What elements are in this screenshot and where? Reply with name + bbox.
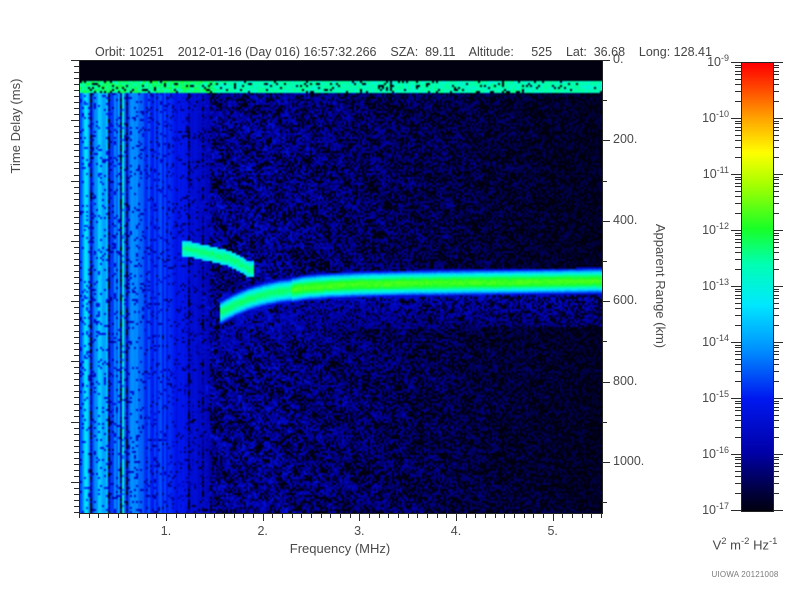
axis-tick-label: 0. (613, 52, 623, 66)
axis-tick (71, 361, 79, 362)
axis-tick (74, 295, 79, 296)
axis-tick (74, 193, 79, 194)
colorbar-tick (735, 74, 741, 75)
colorbar-tick (773, 364, 779, 365)
colorbar-tick-label: 10-12 (702, 221, 729, 237)
axis-tick (602, 341, 607, 342)
axis-tick (214, 513, 215, 518)
axis-tick (602, 221, 610, 222)
axis-tick (602, 382, 610, 383)
colorbar-tick (773, 123, 779, 124)
axis-tick (74, 452, 79, 453)
axis-tick (156, 513, 157, 518)
axis-tick (71, 301, 79, 302)
colorbar-tick (735, 291, 741, 292)
axis-tick (446, 513, 447, 518)
colorbar-tick (735, 403, 741, 404)
colorbar-tick-major (773, 398, 783, 399)
axis-tick (602, 181, 607, 182)
axis-tick (74, 187, 79, 188)
axis-tick (74, 114, 79, 115)
axis-tick (98, 513, 99, 518)
axis-tick (243, 513, 244, 518)
colorbar-tick (735, 427, 741, 428)
axis-tick (195, 513, 196, 518)
axis-tick-label: 600. (613, 293, 637, 307)
axis-tick (74, 313, 79, 314)
axis-tick (127, 513, 128, 518)
colorbar-tick (735, 289, 741, 290)
colorbar-tick (735, 242, 741, 243)
colorbar-tick (735, 247, 741, 248)
axis-tick (602, 422, 607, 423)
colorbar-tick (773, 259, 779, 260)
colorbar-tick (735, 135, 741, 136)
colorbar-tick-major (731, 118, 741, 119)
colorbar-tick (735, 401, 741, 402)
axis-tick (74, 337, 79, 338)
colorbar-tick-major (731, 342, 741, 343)
axis-tick (321, 513, 322, 518)
colorbar-tick (735, 303, 741, 304)
axis-tick-label: 3. (329, 524, 389, 538)
axis-tick (74, 175, 79, 176)
colorbar-tick (773, 71, 779, 72)
axis-tick (74, 440, 79, 441)
colorbar-tick (773, 298, 779, 299)
colorbar-tick (735, 476, 741, 477)
colorbar-tick (773, 459, 779, 460)
colorbar-tick (735, 233, 741, 234)
colorbar-tick (735, 371, 741, 372)
colorbar-tick (735, 71, 741, 72)
colorbar-tick (735, 459, 741, 460)
axis-tick (74, 494, 79, 495)
axis-tick (369, 513, 370, 518)
colorbar-tick (773, 179, 779, 180)
axis-tick (602, 502, 607, 503)
axis-tick (74, 84, 79, 85)
y-axis-right-title: Apparent Range (km) (653, 196, 668, 376)
axis-tick (71, 482, 79, 483)
axis-tick (485, 513, 486, 518)
colorbar-tick (735, 483, 741, 484)
colorbar-tick (773, 127, 779, 128)
axis-tick (74, 458, 79, 459)
colorbar-tick (735, 466, 741, 467)
colorbar-tick (773, 354, 779, 355)
axis-tick (340, 513, 341, 518)
colorbar-tick (773, 177, 779, 178)
axis-tick (74, 265, 79, 266)
axis-tick (330, 513, 331, 518)
axis-tick (108, 513, 109, 518)
axis-tick (495, 513, 496, 518)
axis-tick (74, 488, 79, 489)
colorbar-tick (773, 407, 779, 408)
axis-tick (582, 513, 583, 518)
colorbar-tick (773, 84, 779, 85)
axis-tick (74, 446, 79, 447)
axis-tick (74, 168, 79, 169)
colorbar-tick (773, 381, 779, 382)
colorbar-tick (735, 239, 741, 240)
axis-tick (282, 513, 283, 518)
axis-tick (74, 506, 79, 507)
colorbar-tick (735, 407, 741, 408)
colorbar-tick (773, 269, 779, 270)
colorbar-tick-major (773, 118, 783, 119)
axis-tick (205, 513, 206, 518)
axis-tick (253, 513, 254, 518)
axis-tick (74, 144, 79, 145)
colorbar-tick-major (773, 230, 783, 231)
x-axis-title: Frequency (MHz) (79, 541, 601, 556)
axis-tick (74, 132, 79, 133)
colorbar-tick (773, 186, 779, 187)
axis-tick (74, 416, 79, 417)
colorbar-tick (773, 135, 779, 136)
axis-tick (74, 373, 79, 374)
axis-tick (74, 319, 79, 320)
axis-tick (292, 513, 293, 518)
colorbar-tick (773, 235, 779, 236)
axis-tick (71, 120, 79, 121)
spectrogram-plot-area (79, 60, 603, 514)
colorbar-tick (773, 457, 779, 458)
axis-tick (379, 513, 380, 518)
colorbar-tick (773, 252, 779, 253)
colorbar-tick (735, 186, 741, 187)
colorbar-tick (735, 196, 741, 197)
colorbar-tick (773, 233, 779, 234)
colorbar-tick (735, 259, 741, 260)
colorbar-tick (735, 364, 741, 365)
colorbar-tick-major (773, 454, 783, 455)
colorbar-tick (773, 67, 779, 68)
colorbar-tick-major (731, 286, 741, 287)
axis-tick (350, 513, 351, 518)
axis-tick (71, 181, 79, 182)
axis-tick (74, 235, 79, 236)
colorbar-tick (773, 91, 779, 92)
axis-tick (533, 513, 534, 518)
axis-tick (263, 513, 264, 521)
axis-tick (74, 283, 79, 284)
colorbar-tick (773, 196, 779, 197)
colorbar-tick (735, 308, 741, 309)
axis-tick (74, 271, 79, 272)
colorbar-tick-major (773, 342, 783, 343)
axis-tick (74, 476, 79, 477)
axis-tick (74, 138, 79, 139)
colorbar-tick (773, 325, 779, 326)
colorbar-tick (735, 463, 741, 464)
colorbar-tick (773, 427, 779, 428)
axis-tick (562, 513, 563, 518)
colorbar-tick (773, 403, 779, 404)
axis-tick (74, 78, 79, 79)
axis-tick (74, 162, 79, 163)
axis-tick-label: 200. (613, 132, 637, 146)
axis-tick (427, 513, 428, 518)
colorbar-tick-major (731, 510, 741, 511)
colorbar-tick (735, 415, 741, 416)
colorbar-tick (773, 308, 779, 309)
colorbar-tick (735, 130, 741, 131)
axis-tick (74, 217, 79, 218)
axis-tick (74, 156, 79, 157)
colorbar-tick (773, 437, 779, 438)
axis-tick (224, 513, 225, 518)
colorbar-tick (735, 79, 741, 80)
axis-tick (591, 513, 592, 518)
axis-tick (71, 422, 79, 423)
axis-tick (74, 90, 79, 91)
colorbar-tick (773, 157, 779, 158)
axis-tick (74, 72, 79, 73)
colorbar-tick (773, 295, 779, 296)
colorbar-tick (735, 91, 741, 92)
axis-tick (74, 108, 79, 109)
axis-tick (602, 301, 610, 302)
axis-tick-label: 1000. (613, 454, 644, 468)
colorbar-tick (773, 371, 779, 372)
colorbar-tick (773, 420, 779, 421)
colorbar-tick (735, 203, 741, 204)
colorbar-tick (773, 121, 779, 122)
axis-tick (74, 150, 79, 151)
axis-tick (504, 513, 505, 518)
axis-tick (74, 331, 79, 332)
colorbar-tick (773, 466, 779, 467)
axis-tick (514, 513, 515, 518)
axis-tick (74, 367, 79, 368)
colorbar-tick (773, 65, 779, 66)
colorbar-tick (735, 157, 741, 158)
colorbar-tick (735, 298, 741, 299)
colorbar-tick-label: 10-17 (702, 501, 729, 517)
colorbar-tick (735, 493, 741, 494)
axis-tick (74, 379, 79, 380)
colorbar-tick (735, 147, 741, 148)
colorbar-tick-label: 10-9 (707, 53, 729, 69)
axis-tick (475, 513, 476, 518)
colorbar-tick (773, 101, 779, 102)
axis-tick (74, 229, 79, 230)
colorbar-tick (773, 203, 779, 204)
colorbar-tick (735, 354, 741, 355)
axis-tick (74, 307, 79, 308)
colorbar-tick (735, 457, 741, 458)
colorbar-tick (773, 140, 779, 141)
axis-tick (74, 500, 79, 501)
colorbar-tick (735, 437, 741, 438)
axis-tick (74, 205, 79, 206)
colorbar-tick (735, 67, 741, 68)
colorbar-tick (773, 247, 779, 248)
colorbar-tick (773, 471, 779, 472)
colorbar-tick (773, 130, 779, 131)
axis-tick-label: 2. (233, 524, 293, 538)
axis-tick (74, 434, 79, 435)
axis-tick (74, 397, 79, 398)
plot-header: Orbit: 10251 2012-01-16 (Day 016) 16:57:… (0, 31, 800, 59)
axis-tick (71, 60, 79, 61)
colorbar-tick-major (731, 174, 741, 175)
axis-tick (74, 253, 79, 254)
colorbar-tick (773, 476, 779, 477)
axis-tick (74, 464, 79, 465)
axis-tick (456, 513, 457, 521)
colorbar-tick (773, 493, 779, 494)
colorbar-tick (735, 295, 741, 296)
axis-tick (89, 513, 90, 518)
axis-tick (74, 385, 79, 386)
axis-tick (74, 355, 79, 356)
colorbar-tick (735, 381, 741, 382)
colorbar-tick (773, 213, 779, 214)
colorbar-tick (773, 79, 779, 80)
axis-tick (601, 513, 602, 518)
colorbar-tick (773, 315, 779, 316)
axis-tick (137, 513, 138, 518)
axis-tick (437, 513, 438, 518)
colorbar-tick-major (731, 454, 741, 455)
axis-tick (74, 247, 79, 248)
colorbar-tick (773, 415, 779, 416)
axis-tick (74, 277, 79, 278)
axis-tick (74, 470, 79, 471)
colorbar-tick (735, 140, 741, 141)
axis-tick (74, 343, 79, 344)
colorbar-tick-major (773, 174, 783, 175)
axis-tick (74, 199, 79, 200)
colorbar-tick-label: 10-16 (702, 445, 729, 461)
axis-tick (147, 513, 148, 518)
colorbar-tick (735, 345, 741, 346)
colorbar-tick (773, 291, 779, 292)
colorbar-tick (773, 147, 779, 148)
colorbar-tick (735, 65, 741, 66)
axis-tick-label: 5. (523, 524, 583, 538)
axis-tick (74, 410, 79, 411)
colorbar-tick-major (773, 62, 783, 63)
colorbar-tick-label: 10-11 (703, 165, 729, 181)
axis-tick-label: 400. (613, 213, 637, 227)
axis-tick (602, 261, 607, 262)
colorbar-tick-major (773, 286, 783, 287)
colorbar-tick (773, 483, 779, 484)
colorbar-tick-major (773, 510, 783, 511)
axis-tick (543, 513, 544, 518)
axis-tick (74, 428, 79, 429)
colorbar-tick (735, 121, 741, 122)
y-axis-left-title: Time Delay (ms) (8, 46, 23, 206)
colorbar-tick (773, 359, 779, 360)
colorbar-tick (773, 239, 779, 240)
colorbar-tick-label: 10-10 (702, 109, 729, 125)
colorbar-tick (735, 123, 741, 124)
axis-tick (602, 140, 610, 141)
colorbar-tick (773, 401, 779, 402)
colorbar-tick (773, 351, 779, 352)
axis-tick (602, 100, 607, 101)
axis-tick (74, 223, 79, 224)
axis-tick (602, 60, 610, 61)
colorbar-tick-major (731, 230, 741, 231)
axis-tick (74, 96, 79, 97)
axis-tick (79, 513, 80, 518)
colorbar-tick (735, 183, 741, 184)
colorbar-tick (773, 183, 779, 184)
colorbar-tick (735, 471, 741, 472)
axis-tick (74, 289, 79, 290)
colorbar-tick (735, 179, 741, 180)
colorbar-tick (735, 347, 741, 348)
axis-tick (74, 349, 79, 350)
colorbar-tick-label: 10-14 (702, 333, 729, 349)
colorbar-tick (735, 351, 741, 352)
axis-tick (553, 513, 554, 521)
colorbar-tick (735, 269, 741, 270)
colorbar-tick-major (731, 398, 741, 399)
axis-tick (272, 513, 273, 518)
colorbar-tick (735, 191, 741, 192)
colorbar-tick (735, 325, 741, 326)
axis-tick (74, 391, 79, 392)
colorbar-tick (773, 191, 779, 192)
colorbar-tick-major (731, 62, 741, 63)
colorbar-tick (773, 74, 779, 75)
axis-tick (408, 513, 409, 518)
colorbar-tick (773, 289, 779, 290)
colorbar-tick (735, 359, 741, 360)
axis-tick-label: 4. (426, 524, 486, 538)
axis-tick (176, 513, 177, 518)
colorbar-tick (735, 177, 741, 178)
axis-tick (74, 259, 79, 260)
colorbar-tick (735, 84, 741, 85)
colorbar-tick (773, 347, 779, 348)
axis-tick (417, 513, 418, 518)
colorbar-tick (773, 345, 779, 346)
axis-tick (311, 513, 312, 518)
colorbar-tick-label: 10-15 (702, 389, 729, 405)
axis-tick (71, 241, 79, 242)
axis-tick (602, 462, 610, 463)
axis-tick-label: 800. (613, 374, 637, 388)
colorbar (741, 62, 774, 512)
colorbar-tick (735, 101, 741, 102)
axis-tick (301, 513, 302, 518)
axis-tick (166, 513, 167, 521)
colorbar-tick (735, 213, 741, 214)
axis-tick (74, 325, 79, 326)
axis-tick (398, 513, 399, 518)
axis-tick (524, 513, 525, 518)
colorbar-tick (735, 410, 741, 411)
axis-tick (74, 211, 79, 212)
axis-tick (74, 102, 79, 103)
colorbar-tick (773, 410, 779, 411)
axis-tick-label: 1. (136, 524, 196, 538)
axis-tick (74, 66, 79, 67)
colorbar-tick (773, 303, 779, 304)
colorbar-tick (735, 235, 741, 236)
colorbar-tick (735, 127, 741, 128)
colorbar-tick (735, 252, 741, 253)
